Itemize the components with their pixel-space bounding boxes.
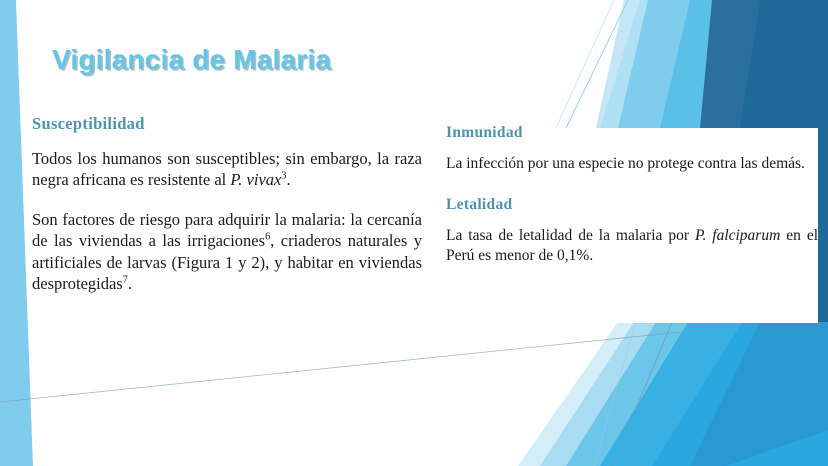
paragraph-susceptibilidad-1: Todos los humanos son susceptibles; sin … [32, 148, 422, 191]
deco-bottom-sky [560, 322, 742, 466]
deco-top-dark-wedge [706, 0, 828, 128]
deco-top-mid-wedge [612, 0, 712, 128]
deco-bottom-hairline-2 [0, 330, 700, 402]
letalidad-lead-text: La tasa de letalidad de la malaria por [446, 227, 695, 244]
page-title: Vigilancia de Malaria [52, 44, 331, 76]
heading-inmunidad: Inmunidad [446, 124, 818, 142]
right-column: Inmunidad La infección por una especie n… [446, 124, 818, 266]
letalidad-species-italic: P. falciparum [695, 227, 780, 244]
deco-bottom-hairline-3 [594, 322, 636, 466]
para1-lead-text: Todos los humanos son susceptibles; sin … [32, 149, 422, 189]
deco-top-hairline [566, 0, 628, 128]
deco-bottom-light [540, 322, 688, 466]
deco-bottom-palest [512, 322, 634, 466]
deco-top-deep-wedge [664, 0, 760, 128]
slide-canvas: Vigilancia de Malaria Susceptibilidad To… [0, 0, 828, 466]
left-column: Susceptibilidad Todos los humanos son su… [32, 114, 422, 295]
deco-top-pale-wedge [584, 0, 648, 128]
para1-species-italic: P. vivax [230, 170, 281, 189]
deco-top-hairline-2 [556, 0, 614, 128]
deco-bottom-white-wedge [492, 322, 618, 466]
heading-letalidad: Letalidad [446, 196, 818, 214]
deco-top-light-wedge [600, 0, 690, 128]
deco-left-band [0, 0, 33, 466]
paragraph-susceptibilidad-2: Son factores de riesgo para adquirir la … [32, 209, 422, 295]
deco-bottom-hairline-1 [612, 322, 672, 466]
deco-top-white-wedge [568, 0, 624, 128]
deco-bottom-mid-blue [690, 322, 828, 466]
para1-tail-text: . [286, 170, 290, 189]
heading-susceptibilidad: Susceptibilidad [32, 114, 422, 134]
deco-bottom-cyan-main [640, 322, 828, 466]
paragraph-letalidad: La tasa de letalidad de la malaria por P… [446, 226, 818, 266]
para2-part3-text: . [128, 274, 132, 293]
deco-right-edge-strip [818, 0, 828, 466]
paragraph-inmunidad: La infección por una especie no protege … [446, 154, 818, 174]
deco-bottom-pale [524, 322, 656, 466]
